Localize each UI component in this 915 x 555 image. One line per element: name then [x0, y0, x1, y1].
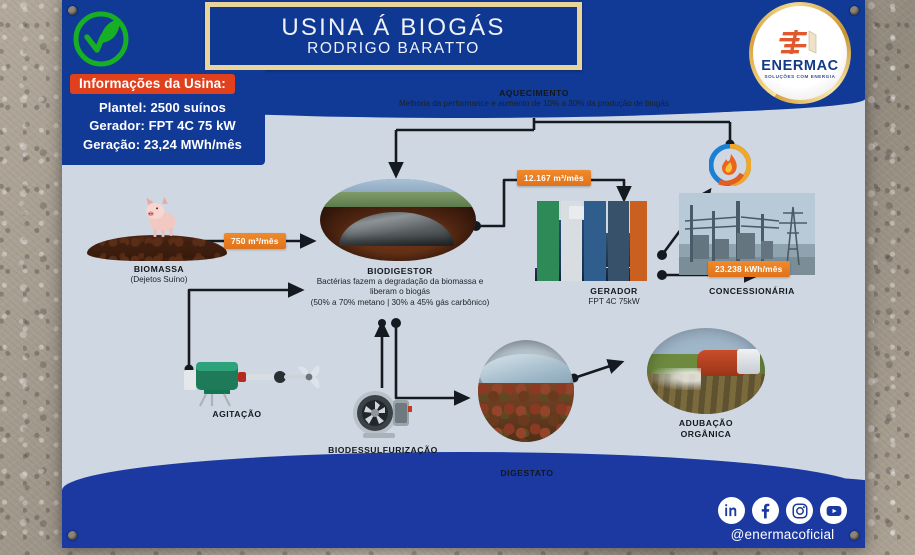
flow-pill-energia: 23.238 kWh/mês — [708, 261, 790, 277]
leaf-check-icon — [70, 8, 132, 70]
lagoon-sludge — [478, 383, 574, 442]
biodigester-field — [320, 192, 476, 207]
social-handle: @enermacoficial — [731, 527, 835, 542]
flow-pill-biomassa: 750 m³/mês — [224, 233, 286, 249]
enermac-mark-icon — [778, 28, 822, 56]
pig-icon — [140, 195, 185, 240]
biomassa-label: BIOMASSA (Dejetos Suíno) — [84, 264, 234, 285]
mixer-photo — [180, 356, 320, 408]
generator-photo — [535, 201, 647, 281]
page-subtitle: RODRIGO BARATTO — [307, 40, 480, 57]
generator-panel-1 — [537, 201, 558, 281]
manure-spreader-photo — [647, 328, 765, 414]
generator-tank — [569, 206, 585, 219]
plant-info-line-plantel: Plantel: 2500 suínos — [70, 99, 255, 117]
plant-info-line-gerador: Gerador: FPT 4C 75 kW — [70, 117, 255, 135]
biodigestor-label: BIODIGESTOR Bactérias fazem a degradação… — [286, 266, 514, 308]
adubacao-label: ADUBAÇÃO ORGÂNICA — [646, 418, 766, 439]
gerador-label: GERADOR FPT 4C 75kW — [559, 286, 669, 307]
generator-panel-4 — [608, 201, 629, 281]
digestate-lagoon-photo — [478, 340, 574, 442]
information-sign-board: USINA Á BIOGÁS RODRIGO BARATTO — [62, 0, 865, 548]
biodigester-photo — [320, 179, 476, 261]
biodigester-sky — [320, 179, 476, 193]
flame-recycle-icon — [709, 144, 751, 186]
truck-cab — [737, 349, 761, 375]
plant-info-title: Informações da Usina: — [70, 74, 235, 94]
board-screw-tr — [850, 6, 859, 15]
concessionaria-label: CONCESSIONÁRIA — [692, 286, 812, 297]
board-screw-br — [850, 531, 859, 540]
digestato-label: DIGESTATO — [481, 468, 573, 479]
pig-manure-photo — [87, 189, 227, 261]
enermac-tagline: SOLUÇÕES COM ENERGIA — [765, 74, 836, 79]
page-title: USINA Á BIOGÁS — [281, 15, 505, 40]
sign-title-plaque: USINA Á BIOGÁS RODRIGO BARATTO — [205, 2, 582, 70]
agitacao-label: AGITAÇÃO — [182, 409, 292, 420]
aquecimento-title: AQUECIMENTO — [384, 88, 684, 98]
blower-photo — [351, 388, 413, 442]
plant-info-line-geracao: Geração: 23,24 MWh/mês — [70, 136, 255, 154]
enermac-logo: ENERMAC SOLUÇÕES COM ENERGIA — [749, 2, 851, 104]
linkedin-icon[interactable] — [718, 497, 745, 524]
plant-info-box: Informações da Usina: Plantel: 2500 suín… — [62, 70, 265, 165]
biodessulfurizacao-label: BIODESSULFURIZAÇÃO — [312, 445, 454, 456]
youtube-icon[interactable] — [820, 497, 847, 524]
generator-panel-5 — [630, 201, 647, 281]
generator-panel-3 — [584, 201, 605, 281]
social-links[interactable]: @enermacoficial — [718, 497, 847, 542]
spray-plume — [652, 368, 702, 390]
aquecimento-caption: AQUECIMENTO Melhoria da performance e au… — [384, 88, 684, 110]
concrete-wall-background: USINA Á BIOGÁS RODRIGO BARATTO — [0, 0, 915, 555]
aquecimento-subtitle: Melhoria da performance e aumento de 10%… — [384, 99, 684, 110]
board-screw-tl — [68, 6, 77, 15]
instagram-icon[interactable] — [786, 497, 813, 524]
board-screw-bl — [68, 531, 77, 540]
enermac-name: ENERMAC — [761, 58, 839, 74]
biodigester-dome — [339, 212, 454, 246]
flow-pill-biogas: 12.167 m³/mês — [517, 170, 591, 186]
facebook-icon[interactable] — [752, 497, 779, 524]
